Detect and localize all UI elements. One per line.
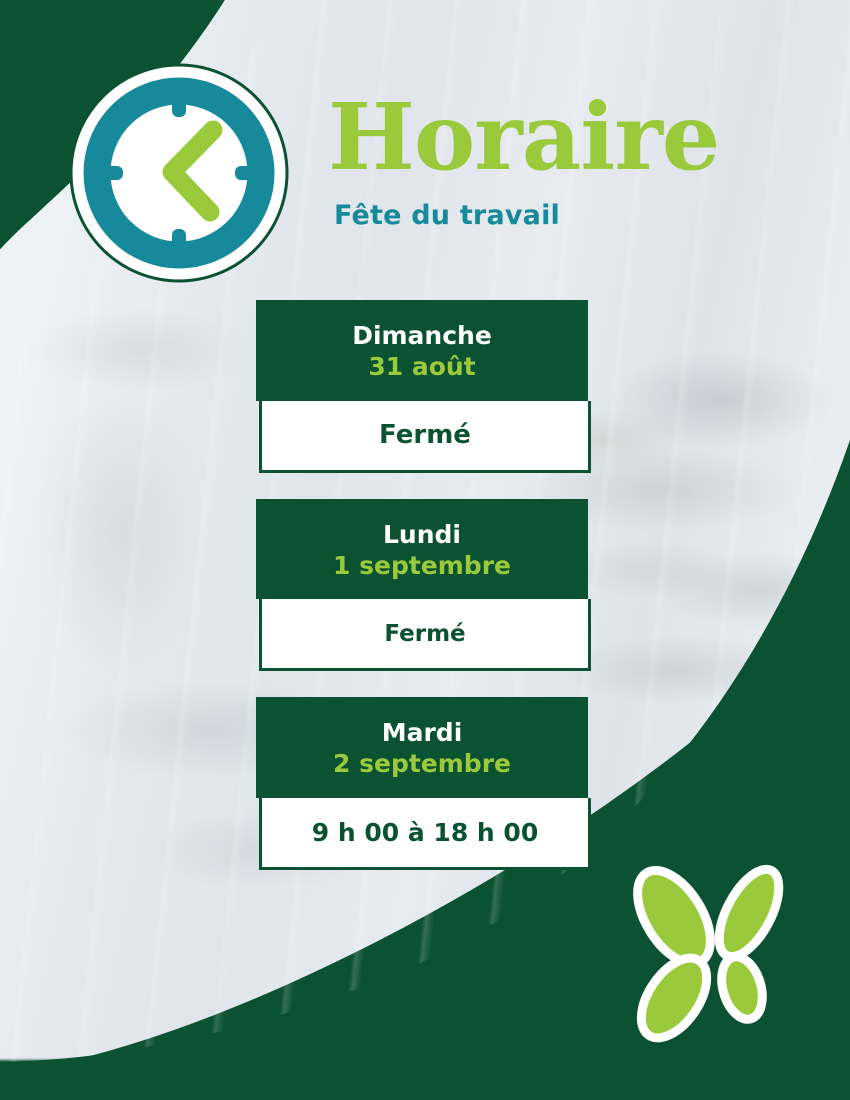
petal-lower-right: [715, 952, 769, 1024]
schedule-day-label: Lundi: [256, 519, 588, 550]
schedule-day-label: Dimanche: [256, 320, 588, 351]
schedule-card-header: Dimanche 31 août: [256, 300, 588, 401]
schedule-date-label: 2 septembre: [256, 748, 588, 779]
schedule-card-header: Lundi 1 septembre: [256, 499, 588, 600]
schedule-day-label: Mardi: [256, 717, 588, 748]
schedule-hours-value: Fermé: [259, 599, 591, 671]
petal-upper-left: [623, 858, 726, 976]
petal-upper-right: [707, 860, 791, 965]
schedule-poster: Horaire Fête du travail Dimanche 31 août…: [0, 0, 850, 1100]
page-title: Horaire: [328, 92, 808, 182]
schedule-date-label: 31 août: [256, 351, 588, 382]
schedule-date-label: 1 septembre: [256, 550, 588, 581]
schedule-hours-value: Fermé: [259, 401, 591, 473]
petal-lower-left: [628, 947, 720, 1050]
schedule-card-lundi: Lundi 1 septembre Fermé: [256, 499, 596, 672]
schedule-list: Dimanche 31 août Fermé Lundi 1 septembre…: [256, 300, 596, 896]
title-block: Horaire Fête du travail: [328, 92, 808, 231]
page-subtitle: Fête du travail: [334, 200, 808, 231]
schedule-card-mardi: Mardi 2 septembre 9 h 00 à 18 h 00: [256, 697, 596, 870]
butterfly-flower-icon: [614, 855, 814, 1055]
poster-header: Horaire Fête du travail: [0, 0, 850, 290]
clock-icon: [68, 62, 290, 284]
schedule-hours-value: 9 h 00 à 18 h 00: [259, 798, 591, 870]
schedule-card-header: Mardi 2 septembre: [256, 697, 588, 798]
schedule-card-dimanche: Dimanche 31 août Fermé: [256, 300, 596, 473]
